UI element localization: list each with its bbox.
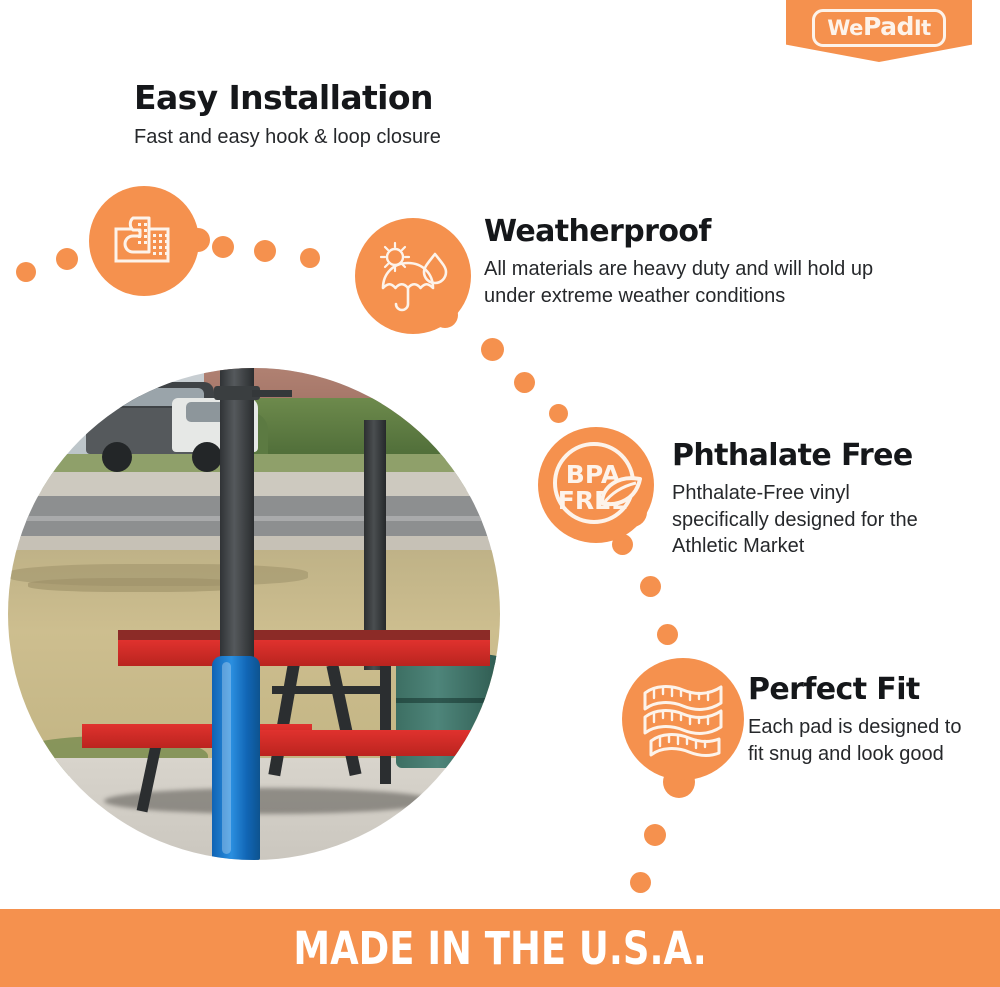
trail-dot	[630, 872, 651, 893]
logo-plate: WePadIt	[812, 9, 945, 47]
photo-pole-arm	[252, 390, 292, 397]
photo-table-shadow	[104, 788, 434, 814]
photo-road-line	[8, 516, 500, 521]
made-in-usa-banner: MADE IN THE U.S.A.	[0, 909, 1000, 987]
feature-icon-easy-installation	[89, 186, 199, 296]
logo-word-it: It	[914, 16, 931, 40]
photo-suv-wheel	[192, 442, 222, 472]
feature-description-phthalate-free: Phthalate-Free vinyl specifically design…	[672, 480, 934, 560]
feature-icon-phthalate-free: BPA FREE	[538, 427, 654, 543]
feature-icon-perfect-fit	[622, 658, 744, 780]
measuring-tape-icon	[639, 675, 727, 763]
feature-icon-weatherproof	[355, 218, 471, 334]
feature-description-easy-installation: Fast and easy hook & loop closure	[134, 124, 554, 151]
photo-dirt-patch	[28, 578, 248, 592]
feature-title-perfect-fit: Perfect Fit	[748, 672, 920, 707]
logo-word-we: We	[827, 16, 863, 40]
feature-title-phthalate-free: Phthalate Free	[672, 438, 913, 473]
trail-dot	[657, 624, 678, 645]
made-in-usa-text: MADE IN THE U.S.A.	[293, 922, 706, 975]
logo-word-pad: Pad	[863, 12, 914, 41]
photo-table-crossbar	[272, 686, 380, 694]
feature-title-easy-installation: Easy Installation	[134, 78, 433, 117]
trail-dot	[212, 236, 234, 258]
brand-logo-banner: WePadIt	[786, 0, 972, 62]
trail-dot	[254, 240, 276, 262]
bpa-free-leaf-icon: BPA FREE	[544, 433, 648, 537]
photo-bench	[248, 730, 488, 756]
trail-dot	[56, 248, 78, 270]
trail-dot	[644, 824, 666, 846]
sun-umbrella-raindrop-icon	[375, 240, 451, 312]
logo-wordmark: WePadIt	[827, 15, 930, 41]
photo-suv-wheel	[102, 442, 132, 472]
trail-dot	[300, 248, 320, 268]
feature-title-weatherproof: Weatherproof	[484, 214, 711, 249]
product-photo	[8, 368, 500, 860]
trail-dot	[481, 338, 504, 361]
photo-blue-pole-pad	[212, 656, 260, 860]
photo-picnic-table-top	[118, 640, 490, 666]
photo-trash-barrel-band	[396, 698, 500, 703]
photo-metal-pole	[220, 368, 254, 668]
trail-dot	[640, 576, 661, 597]
trail-dot	[16, 262, 36, 282]
trail-dot	[549, 404, 568, 423]
feature-description-perfect-fit: Each pad is designed to fit snug and loo…	[748, 714, 978, 767]
infographic-page: WePadIt Easy Installation Fast and easy …	[0, 0, 1000, 987]
photo-table-leg	[380, 664, 391, 784]
photo-pole-pad-highlight	[222, 662, 231, 854]
feature-description-weatherproof: All materials are heavy duty and will ho…	[484, 256, 904, 309]
hook-and-loop-closure-icon	[113, 213, 175, 269]
trail-dot	[514, 372, 535, 393]
